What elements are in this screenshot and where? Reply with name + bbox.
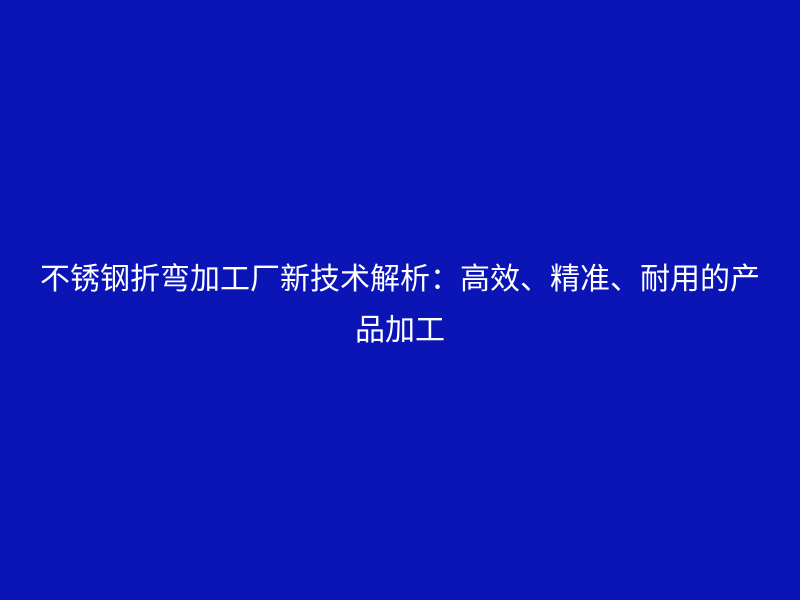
page-title: 不锈钢折弯加工厂新技术解析：高效、精准、耐用的产品加工 <box>40 254 760 356</box>
title-card-canvas: 不锈钢折弯加工厂新技术解析：高效、精准、耐用的产品加工 <box>0 0 800 600</box>
title-block: 不锈钢折弯加工厂新技术解析：高效、精准、耐用的产品加工 <box>0 254 800 356</box>
